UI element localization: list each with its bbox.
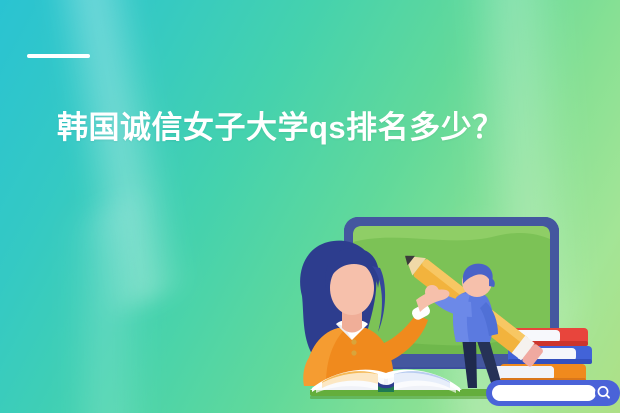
- search-bar[interactable]: [486, 380, 620, 406]
- background-light-streak: [0, 181, 289, 413]
- accent-rule: [27, 54, 90, 58]
- education-study-illustration: [286, 196, 620, 413]
- banner: 韩国诚信女子大学qs排名多少？: [0, 0, 620, 413]
- background-light-streak: [0, 0, 328, 341]
- magnifier-icon[interactable]: [595, 384, 613, 402]
- search-input[interactable]: [492, 385, 596, 401]
- page-title: 韩国诚信女子大学qs排名多少？: [57, 106, 557, 150]
